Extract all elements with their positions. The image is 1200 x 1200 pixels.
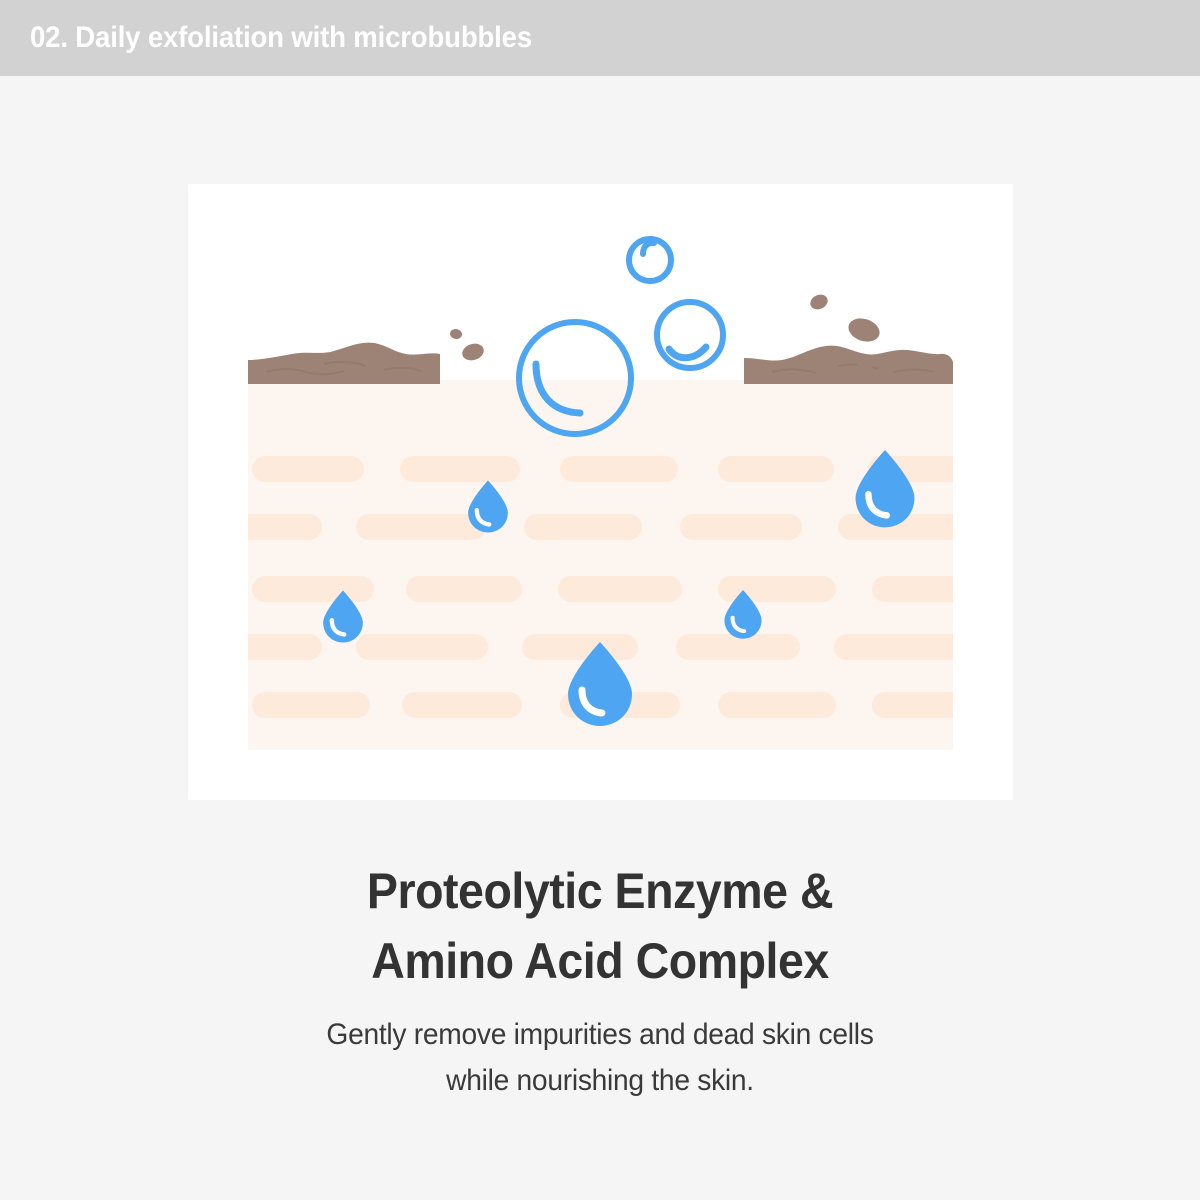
illustration-card xyxy=(188,184,1013,800)
page-title-line-1: Proteolytic Enzyme & xyxy=(367,863,833,919)
skin-cross-section-illustration xyxy=(188,184,1013,800)
page-title-line-2: Amino Acid Complex xyxy=(371,933,829,989)
microbubble-medium xyxy=(657,302,723,368)
section-header-bar: 02. Daily exfoliation with microbubbles xyxy=(0,0,1200,76)
microbubble-small xyxy=(629,239,671,281)
dead-skin-dirt-layer xyxy=(248,343,953,384)
page-description-line-2: while nourishing the skin. xyxy=(36,1058,1164,1104)
dirt-fleck-4 xyxy=(845,315,882,346)
header-title: 02. Daily exfoliation with microbubbles xyxy=(30,21,532,55)
page-root: 02. Daily exfoliation with microbubbles xyxy=(0,0,1200,1200)
page-description: Gently remove impurities and dead skin c… xyxy=(36,1012,1164,1104)
page-title: Proteolytic Enzyme & Amino Acid Complex xyxy=(42,856,1158,996)
text-block: Proteolytic Enzyme & Amino Acid Complex … xyxy=(0,856,1200,1104)
dirt-fleck-3 xyxy=(808,292,830,312)
page-description-line-1: Gently remove impurities and dead skin c… xyxy=(36,1012,1164,1058)
dirt-fleck-1 xyxy=(460,341,486,363)
dirt-fleck-2 xyxy=(449,328,463,340)
